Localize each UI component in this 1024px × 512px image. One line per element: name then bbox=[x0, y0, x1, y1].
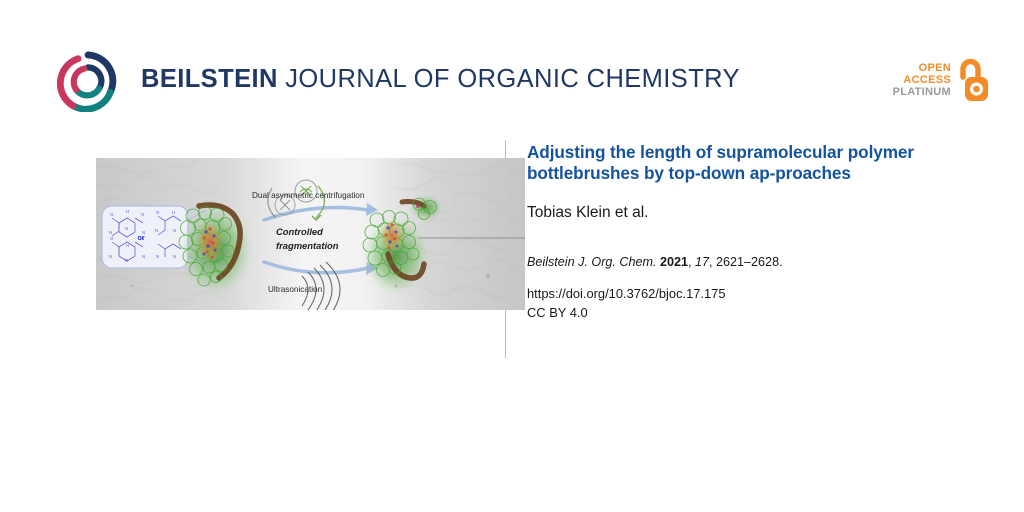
citation-journal: Beilstein J. Org. Chem. bbox=[527, 255, 656, 269]
wordmark-light: JOURNAL OF ORGANIC CHEMISTRY bbox=[285, 65, 740, 93]
svg-text:N: N bbox=[109, 230, 112, 235]
svg-text:H: H bbox=[126, 243, 129, 248]
open-access-badge[interactable]: OPEN ACCESS PLATINUM bbox=[893, 57, 990, 103]
open-padlock-icon bbox=[958, 57, 990, 103]
svg-text:N: N bbox=[156, 254, 159, 259]
beilstein-spiral-logo-icon bbox=[57, 50, 119, 112]
open-access-line-platinum: PLATINUM bbox=[893, 86, 951, 98]
inset-or-label: or bbox=[138, 235, 145, 242]
svg-text:N: N bbox=[173, 228, 176, 233]
svg-text:N: N bbox=[109, 254, 112, 259]
svg-text:H: H bbox=[126, 209, 129, 214]
label-ultrasonication: Ultrasonication bbox=[268, 285, 323, 294]
svg-text:N: N bbox=[155, 228, 158, 233]
open-access-line-open: OPEN bbox=[893, 62, 951, 74]
journal-wordmark: BEILSTEIN JOURNAL OF ORGANIC CHEMISTRY bbox=[141, 67, 740, 95]
graphical-abstract-image[interactable]: OHO NNN OHO NRN OH NN NN or bbox=[96, 158, 525, 310]
svg-text:N: N bbox=[173, 254, 176, 259]
article-authors: Tobias Klein et al. bbox=[527, 183, 927, 223]
label-controlled: Controlled bbox=[276, 226, 323, 237]
wordmark-bold: BEILSTEIN bbox=[141, 65, 278, 93]
article-details: Adjusting the length of supramolecular p… bbox=[527, 142, 927, 322]
open-access-text: OPEN ACCESS PLATINUM bbox=[893, 62, 951, 99]
article-license[interactable]: CC BY 4.0 bbox=[527, 304, 927, 322]
label-fragmentation: fragmentation bbox=[276, 240, 339, 251]
graphical-abstract-illustration: OHO NNN OHO NRN OH NN NN or bbox=[96, 158, 525, 310]
svg-text:N: N bbox=[125, 226, 128, 231]
citation-pages: 2621–2628. bbox=[716, 255, 783, 269]
svg-text:H: H bbox=[172, 210, 175, 215]
journal-masthead: BEILSTEIN JOURNAL OF ORGANIC CHEMISTRY O… bbox=[0, 0, 1024, 128]
journal-brand[interactable]: BEILSTEIN JOURNAL OF ORGANIC CHEMISTRY bbox=[57, 50, 740, 112]
open-access-line-access: ACCESS bbox=[893, 74, 951, 86]
svg-text:R: R bbox=[125, 258, 128, 263]
article-doi-link[interactable]: https://doi.org/10.3762/bjoc.17.175 bbox=[527, 270, 927, 303]
article-citation: Beilstein J. Org. Chem. 2021, 17, 2621–2… bbox=[527, 223, 927, 270]
article-card: OHO NNN OHO NRN OH NN NN or bbox=[0, 128, 1024, 388]
label-dual-asymmetric-centrifugation: Dual asymmetric centrifugation bbox=[252, 191, 365, 200]
citation-volume: 17 bbox=[695, 255, 709, 269]
svg-text:N: N bbox=[142, 254, 145, 259]
article-title[interactable]: Adjusting the length of supramolecular p… bbox=[527, 142, 922, 183]
citation-year: 2021 bbox=[660, 255, 688, 269]
